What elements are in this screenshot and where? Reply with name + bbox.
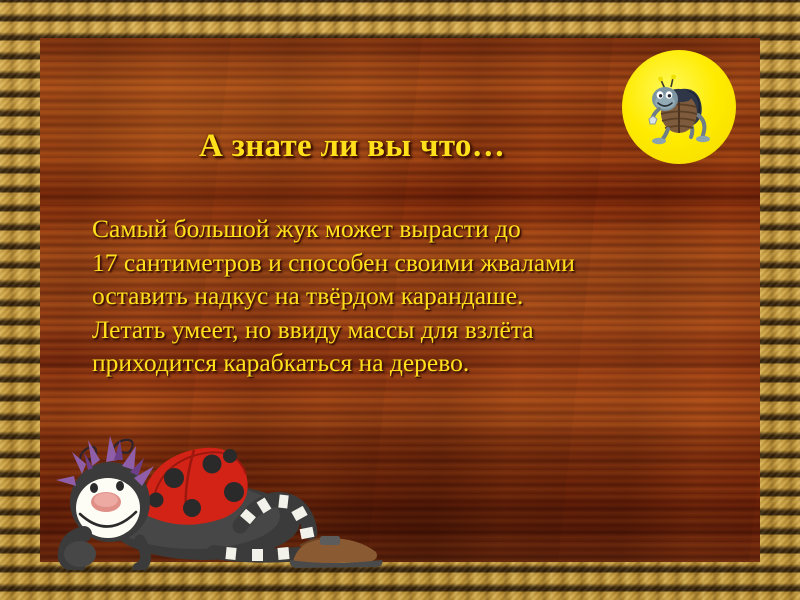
body-line: Летать умеет, но ввиду массы для взлёта: [92, 313, 712, 347]
body-line: оставить надкус на твёрдом карандаше.: [92, 279, 712, 313]
beetle-badge-circle: [622, 50, 736, 164]
body-line: 17 сантиметров и способен своими жвалами: [92, 246, 712, 280]
slide-canvas: А знате ли вы что… Самый большой жук мож…: [0, 0, 800, 600]
body-text-block: Самый большой жук может вырасти до 17 са…: [92, 212, 712, 380]
body-line: Самый большой жук может вырасти до: [92, 212, 712, 246]
ladybug-icon: [44, 430, 394, 570]
body-line: приходится карабкаться на дерево.: [92, 346, 712, 380]
beetle-icon: [643, 69, 715, 145]
page-title: А знате ли вы что…: [92, 128, 612, 164]
